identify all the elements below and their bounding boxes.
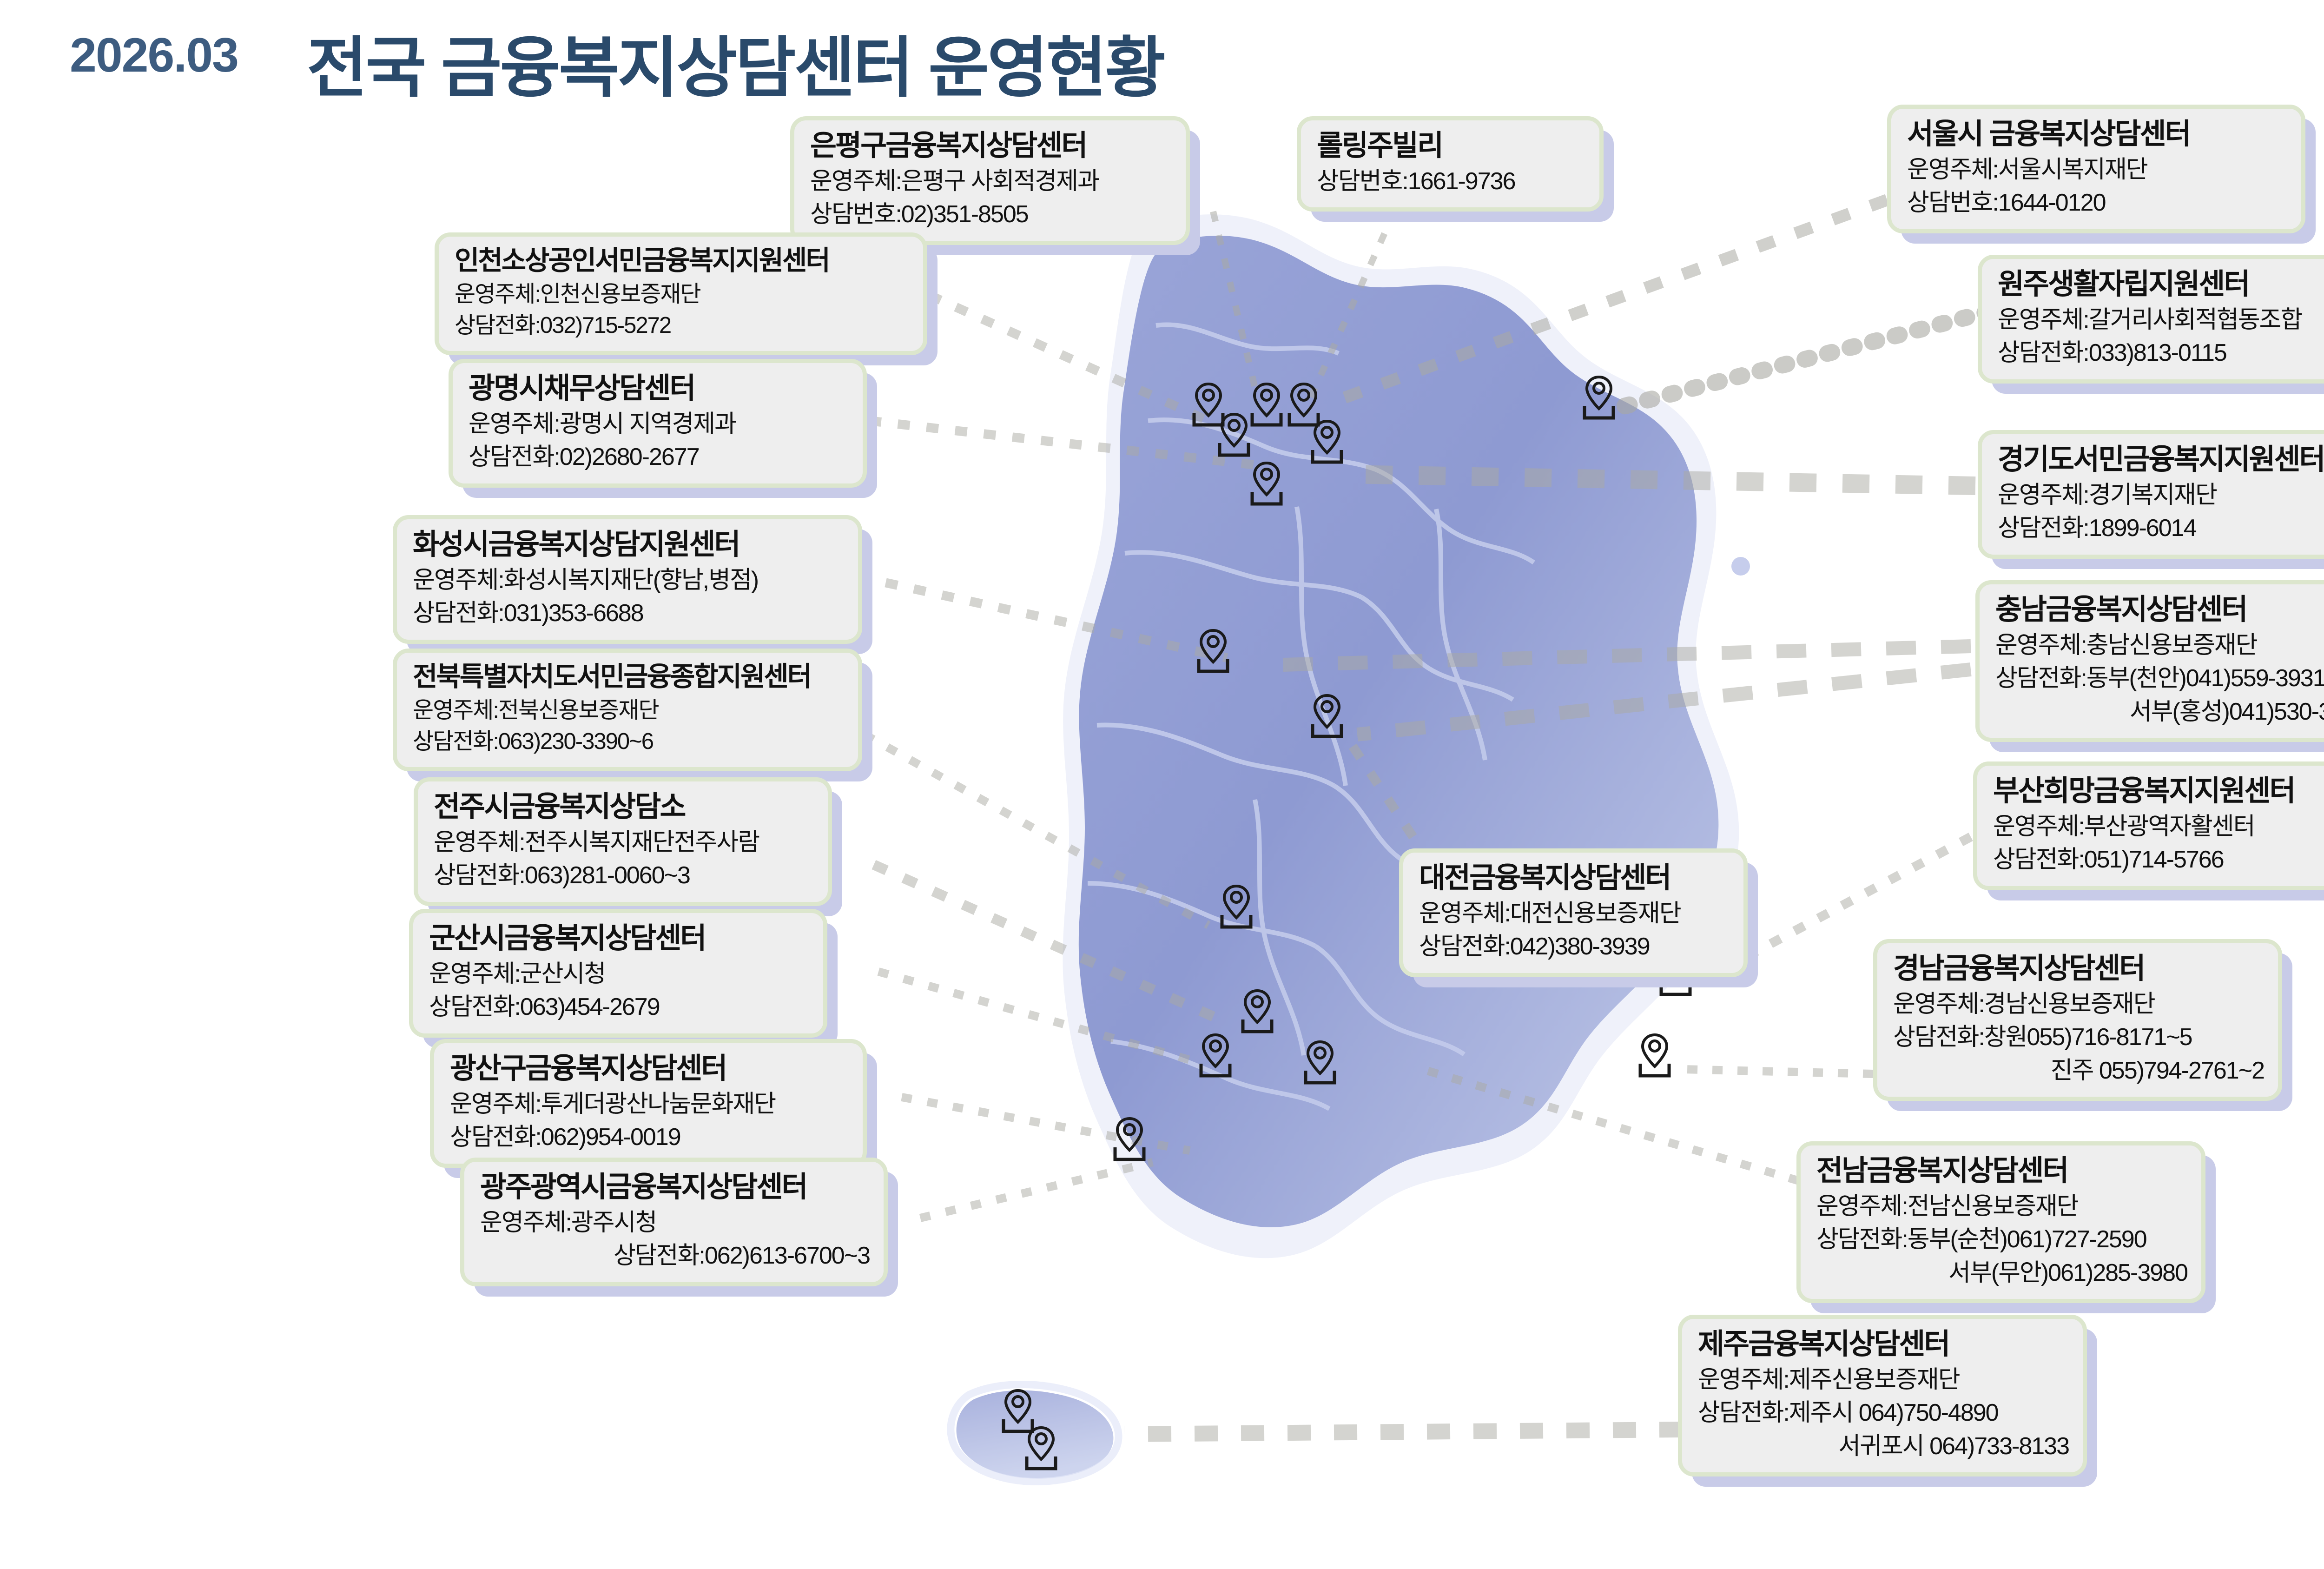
center-operator: 운영주체:인천신용보증재단	[455, 280, 909, 310]
center-operator: 운영주체:광주시청	[480, 1207, 870, 1239]
center-card-rolling-jubilee[interactable]: 롤링주빌리 상담번호:1661-9736	[1297, 116, 1604, 212]
center-title: 전북특별자치도서민금융종합지원센터	[413, 660, 844, 694]
center-card-jeonnam[interactable]: 전남금융복지상담센터 운영주체:전남신용보증재단 상담전화:동부(순천)061)…	[1796, 1141, 2205, 1303]
center-title: 군산시금융복지상담센터	[429, 920, 809, 957]
center-operator: 운영주체:부산광역자활센터	[1993, 811, 2324, 843]
center-title: 은평구금융복지상담센터	[810, 128, 1172, 164]
center-title: 전주시금융복지상담소	[434, 789, 814, 825]
center-title: 광산구금융복지상담센터	[450, 1051, 849, 1087]
center-phone: 상담전화:제주시 064)750-4890	[1698, 1397, 2069, 1429]
center-card-eunpyeong[interactable]: 은평구금융복지상담센터 운영주체:은평구 사회적경제과 상담번호:02)351-…	[790, 116, 1190, 245]
center-phone: 상담전화:동부(천안)041)559-3931~4	[1995, 663, 2324, 695]
map-pin-icon	[1303, 1038, 1337, 1086]
center-card-gwangsan[interactable]: 광산구금융복지상담센터 운영주체:투게더광산나눔문화재단 상담전화:062)95…	[430, 1039, 867, 1168]
center-title: 부산희망금융복지지원센터	[1993, 773, 2324, 809]
center-title: 충남금융복지상담센터	[1995, 592, 2324, 628]
center-title: 전남금융복지상담센터	[1816, 1153, 2187, 1189]
center-card-wonju[interactable]: 원주생활자립지원센터 운영주체:갈거리사회적협동조합 상담전화:033)813-…	[1978, 255, 2324, 384]
center-card-jeju[interactable]: 제주금융복지상담센터 운영주체:제주신용보증재단 상담전화:제주시 064)75…	[1678, 1315, 2087, 1476]
center-phone-secondary: 서귀포시 064)733-8133	[1698, 1431, 2069, 1463]
center-phone: 상담전화:033)813-0115	[1998, 338, 2324, 369]
center-phone-secondary: 서부(무안)061)285-3980	[1816, 1258, 2187, 1289]
infographic-root: 2026.03 전국 금융복지상담센터 운영현황 (사)한국금융복지상담협회 은…	[0, 0, 2324, 1569]
center-operator: 운영주체:은평구 사회적경제과	[810, 166, 1172, 198]
report-date: 2026.03	[70, 28, 238, 83]
center-phone-secondary: 서부(홍성)041)530-3876~7	[1995, 696, 2324, 728]
center-operator: 운영주체:전남신용보증재단	[1816, 1191, 2187, 1223]
map-pin-icon	[1219, 882, 1254, 931]
center-phone: 상담전화:051)714-5766	[1993, 844, 2324, 876]
map-pin-icon	[1310, 692, 1344, 740]
center-phone: 상담전화:동부(순천)061)727-2590	[1816, 1224, 2187, 1256]
center-phone: 상담전화:063)230-3390~6	[413, 727, 844, 757]
center-operator: 운영주체:군산시청	[429, 959, 809, 990]
page-title: 전국 금융복지상담센터 운영현황	[307, 14, 1164, 110]
center-phone: 상담번호:02)351-8505	[810, 199, 1172, 231]
center-title: 원주생활자립지원센터	[1998, 266, 2324, 303]
center-card-jeonbuk[interactable]: 전북특별자치도서민금융종합지원센터 운영주체:전북신용보증재단 상담전화:063…	[393, 649, 862, 771]
map-pin-icon	[1024, 1424, 1058, 1472]
center-phone: 상담전화:032)715-5272	[455, 311, 909, 341]
center-card-chungnam[interactable]: 충남금융복지상담센터 운영주체:충남신용보증재단 상담전화:동부(천안)041)…	[1975, 580, 2324, 742]
center-phone: 상담번호:1661-9736	[1317, 166, 1585, 198]
map-pin-icon	[1217, 410, 1251, 459]
center-operator: 운영주체:제주신용보증재단	[1698, 1364, 2069, 1396]
map-pin-icon	[1582, 373, 1616, 422]
map-pin-icon	[1240, 987, 1274, 1035]
center-card-hwaseong[interactable]: 화성시금융복지상담지원센터 운영주체:화성시복지재단(향남,병점) 상담전화:0…	[393, 515, 862, 644]
center-phone: 상담전화:창원055)716-8171~5	[1893, 1022, 2264, 1053]
center-phone: 상담전화:062)613-6700~3	[480, 1240, 870, 1272]
center-phone: 상담전화:1899-6014	[1998, 513, 2324, 544]
map-pin-icon	[1198, 1031, 1233, 1079]
center-phone: 상담전화:063)454-2679	[429, 992, 809, 1023]
center-phone: 상담전화:031)353-6688	[413, 598, 844, 629]
center-operator: 운영주체:서울시복지재단	[1907, 154, 2287, 186]
map-pin-icon	[1196, 627, 1230, 675]
center-title: 경남금융복지상담센터	[1893, 951, 2264, 987]
map-pin-icon	[1249, 459, 1284, 508]
center-operator: 운영주체:경기복지재단	[1998, 480, 2324, 511]
center-operator: 운영주체:전주시복지재단전주사람	[434, 827, 814, 859]
map-pin-icon	[1637, 1031, 1672, 1079]
center-title: 광명시채무상담센터	[469, 371, 849, 407]
center-operator: 운영주체:화성시복지재단(향남,병점)	[413, 565, 844, 596]
center-card-gwangmyeong[interactable]: 광명시채무상담센터 운영주체:광명시 지역경제과 상담전화:02)2680-26…	[449, 359, 867, 488]
center-phone: 상담전화:02)2680-2677	[469, 442, 849, 473]
center-operator: 운영주체:충남신용보증재단	[1995, 630, 2324, 662]
center-operator: 운영주체:대전신용보증재단	[1419, 898, 1730, 930]
center-card-busan[interactable]: 부산희망금융복지지원센터 운영주체:부산광역자활센터 상담전화:051)714-…	[1973, 761, 2324, 890]
center-title: 광주광역시금융복지상담센터	[480, 1169, 870, 1205]
center-title: 서울시 금융복지상담센터	[1907, 116, 2287, 152]
center-phone: 상담전화:042)380-3939	[1419, 931, 1730, 963]
map-pin-icon	[1249, 380, 1284, 429]
map-pin-icon	[1112, 1115, 1147, 1163]
center-phone: 상담번호:1644-0120	[1907, 187, 2287, 219]
center-card-gunsan[interactable]: 군산시금융복지상담센터 운영주체:군산시청 상담전화:063)454-2679	[409, 909, 827, 1038]
center-title: 화성시금융복지상담지원센터	[413, 527, 844, 563]
center-phone-secondary: 진주 055)794-2761~2	[1893, 1055, 2264, 1087]
center-card-incheon[interactable]: 인천소상공인서민금융복지지원센터 운영주체:인천신용보증재단 상담전화:032)…	[435, 232, 927, 355]
map-pin-icon	[1310, 417, 1344, 466]
center-card-gyeongnam[interactable]: 경남금융복지상담센터 운영주체:경남신용보증재단 상담전화:창원055)716-…	[1873, 939, 2282, 1101]
center-card-daejeon[interactable]: 대전금융복지상담센터 운영주체:대전신용보증재단 상담전화:042)380-39…	[1399, 848, 1748, 977]
center-phone: 상담전화:063)281-0060~3	[434, 860, 814, 892]
center-title: 제주금융복지상담센터	[1698, 1326, 2069, 1363]
center-title: 경기도서민금융복지지원센터	[1998, 442, 2324, 478]
center-title: 인천소상공인서민금융복지지원센터	[455, 244, 909, 278]
center-card-seoul[interactable]: 서울시 금융복지상담센터 운영주체:서울시복지재단 상담번호:1644-0120	[1887, 105, 2305, 233]
center-title: 대전금융복지상담센터	[1419, 860, 1730, 896]
center-title: 롤링주빌리	[1317, 128, 1585, 164]
center-operator: 운영주체:투게더광산나눔문화재단	[450, 1089, 849, 1120]
center-card-gyeonggi[interactable]: 경기도서민금융복지지원센터 운영주체:경기복지재단 상담전화:1899-6014	[1978, 430, 2324, 559]
center-operator: 운영주체:경남신용보증재단	[1893, 989, 2264, 1020]
center-operator: 운영주체:전북신용보증재단	[413, 696, 844, 726]
center-card-gwangju[interactable]: 광주광역시금융복지상담센터 운영주체:광주시청 상담전화:062)613-670…	[460, 1158, 888, 1286]
center-operator: 운영주체:갈거리사회적협동조합	[1998, 305, 2324, 336]
center-card-jeonju[interactable]: 전주시금융복지상담소 운영주체:전주시복지재단전주사람 상담전화:063)281…	[414, 777, 832, 906]
center-phone: 상담전화:062)954-0019	[450, 1122, 849, 1153]
center-operator: 운영주체:광명시 지역경제과	[469, 409, 849, 440]
